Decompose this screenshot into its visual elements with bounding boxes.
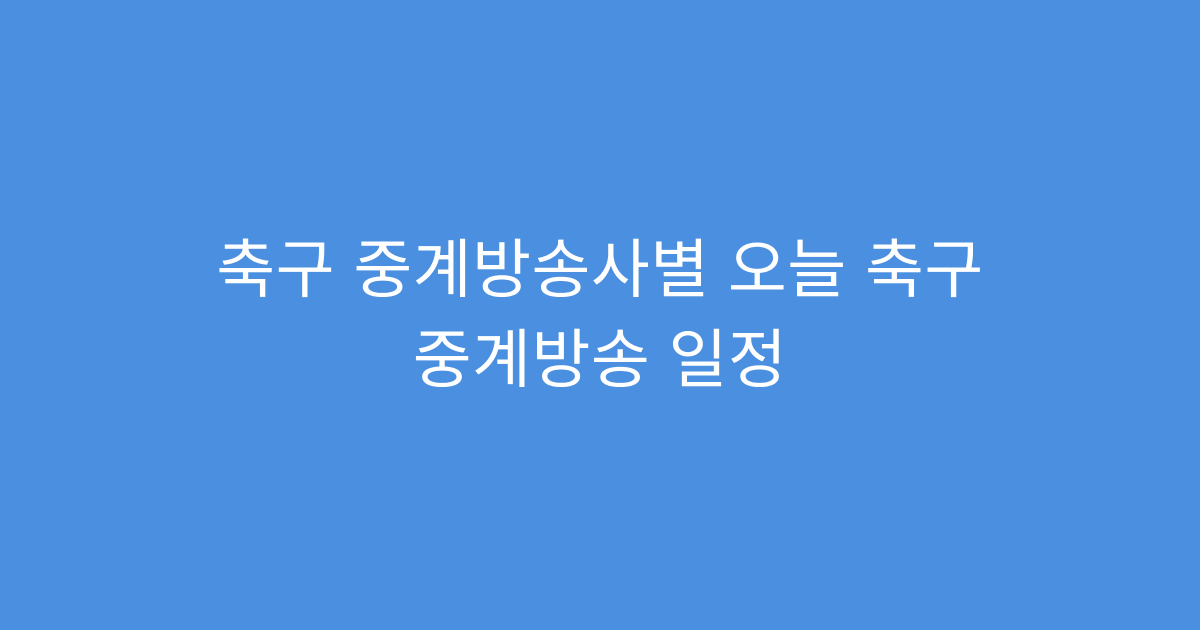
title-line-2: 중계방송 일정 bbox=[100, 315, 1100, 405]
title-line-1: 축구 중계방송사별 오늘 축구 bbox=[100, 225, 1100, 315]
thumbnail-card: 축구 중계방송사별 오늘 축구 중계방송 일정 bbox=[0, 0, 1200, 630]
page-title: 축구 중계방송사별 오늘 축구 중계방송 일정 bbox=[100, 225, 1100, 405]
